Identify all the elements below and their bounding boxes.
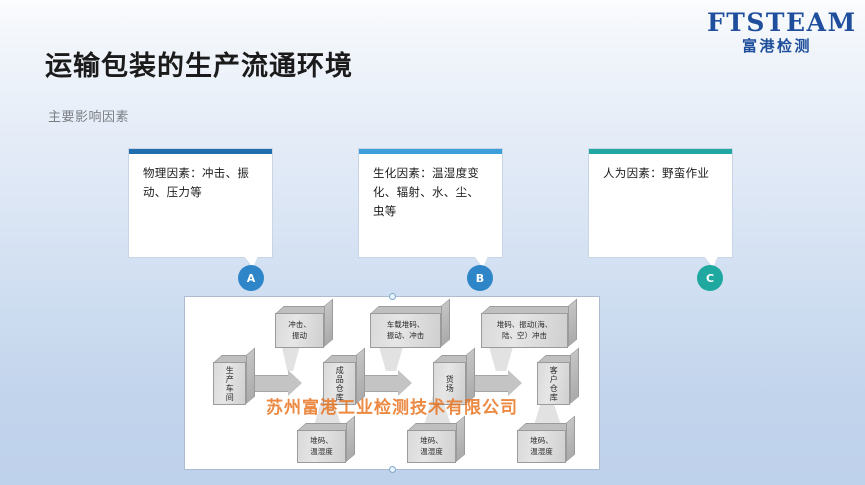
factor-box-bottom-1: 堆码、 温湿度 — [297, 423, 355, 463]
factor-box-top-3: 堆码、振动(海、 陆、空）冲击 — [481, 306, 577, 348]
chain-box-4: 客户仓库 — [537, 355, 579, 405]
factor-line-1: 堆码、 — [420, 436, 443, 447]
factor-box-top-1: 冲击、 振动 — [275, 306, 333, 348]
factor-line-2: 振动 — [292, 331, 307, 342]
box-front-face: 堆码、 温湿度 — [297, 430, 346, 463]
selection-handle-top[interactable] — [389, 293, 396, 300]
flow-diagram-image[interactable]: 冲击、 振动 车载堆码、 振动、冲击 堆码、振动(海、 陆、空）冲击 — [184, 296, 600, 470]
box-front-face: 客户仓库 — [537, 362, 570, 405]
box-side-face — [356, 347, 365, 404]
box-side-face — [346, 415, 355, 462]
callout-text-b: 生化因素：温湿度变化、辐射、水、尘、虫等 — [359, 154, 502, 229]
callout-badge-b[interactable]: B — [467, 265, 493, 291]
page-title: 运输包装的生产流通环境 — [45, 44, 353, 83]
factor-line-2: 温湿度 — [530, 447, 553, 458]
factor-line-2: 陆、空）冲击 — [502, 331, 547, 342]
callout-badge-a[interactable]: A — [238, 265, 264, 291]
factor-box-bottom-2: 堆码、 温湿度 — [407, 423, 465, 463]
factor-line-2: 温湿度 — [310, 447, 333, 458]
box-front-face: 冲击、 振动 — [275, 313, 324, 348]
factor-line-1: 堆码、振动(海、 — [497, 320, 552, 331]
box-front-face: 货场 — [433, 362, 466, 405]
factor-line-2: 温湿度 — [420, 447, 443, 458]
box-side-face — [566, 415, 575, 462]
box-side-face — [324, 298, 333, 347]
logo-chinese-name: 富港检测 — [707, 39, 847, 54]
chain-label: 客户仓库 — [548, 366, 560, 402]
callout-text-a: 物理因素：冲击、振动、压力等 — [129, 154, 272, 210]
chain-box-2: 成品仓库 — [323, 355, 365, 405]
factor-line-1: 车载堆码、 — [387, 320, 425, 331]
box-side-face — [466, 347, 475, 404]
factor-box-bottom-3: 堆码、 温湿度 — [517, 423, 575, 463]
chain-label: 成品仓库 — [334, 366, 346, 402]
callout-badge-c[interactable]: C — [697, 265, 723, 291]
box-side-face — [456, 415, 465, 462]
selection-handle-bottom[interactable] — [389, 466, 396, 473]
factor-line-1: 冲击、 — [288, 320, 311, 331]
callout-card-c[interactable]: 人为因素：野蛮作业 — [588, 148, 733, 258]
chain-label: 生产车间 — [224, 366, 236, 402]
factor-line-1: 堆码、 — [530, 436, 553, 447]
box-front-face: 成品仓库 — [323, 362, 356, 405]
chain-box-3: 货场 — [433, 355, 475, 405]
box-front-face: 堆码、振动(海、 陆、空）冲击 — [481, 313, 568, 348]
logo-wordmark: FTSTEAM — [707, 10, 847, 35]
factor-box-top-2: 车载堆码、 振动、冲击 — [370, 306, 450, 348]
box-side-face — [246, 347, 255, 404]
page-subtitle: 主要影响因素 — [48, 106, 129, 125]
slide-canvas: FTSTEAM 富港检测 运输包装的生产流通环境 主要影响因素 物理因素：冲击、… — [0, 0, 865, 485]
box-front-face: 堆码、 温湿度 — [517, 430, 566, 463]
box-side-face — [570, 347, 579, 404]
callout-text-c: 人为因素：野蛮作业 — [589, 154, 732, 191]
factor-line-1: 堆码、 — [310, 436, 333, 447]
callout-card-a[interactable]: 物理因素：冲击、振动、压力等 — [128, 148, 273, 258]
chain-label: 货场 — [444, 375, 456, 393]
box-side-face — [441, 298, 450, 347]
box-front-face: 堆码、 温湿度 — [407, 430, 456, 463]
box-front-face: 生产车间 — [213, 362, 246, 405]
company-logo: FTSTEAM 富港检测 — [707, 10, 847, 54]
factor-line-2: 振动、冲击 — [387, 331, 425, 342]
box-front-face: 车载堆码、 振动、冲击 — [370, 313, 441, 348]
box-side-face — [568, 298, 577, 347]
chain-box-1: 生产车间 — [213, 355, 255, 405]
callout-card-b[interactable]: 生化因素：温湿度变化、辐射、水、尘、虫等 — [358, 148, 503, 258]
